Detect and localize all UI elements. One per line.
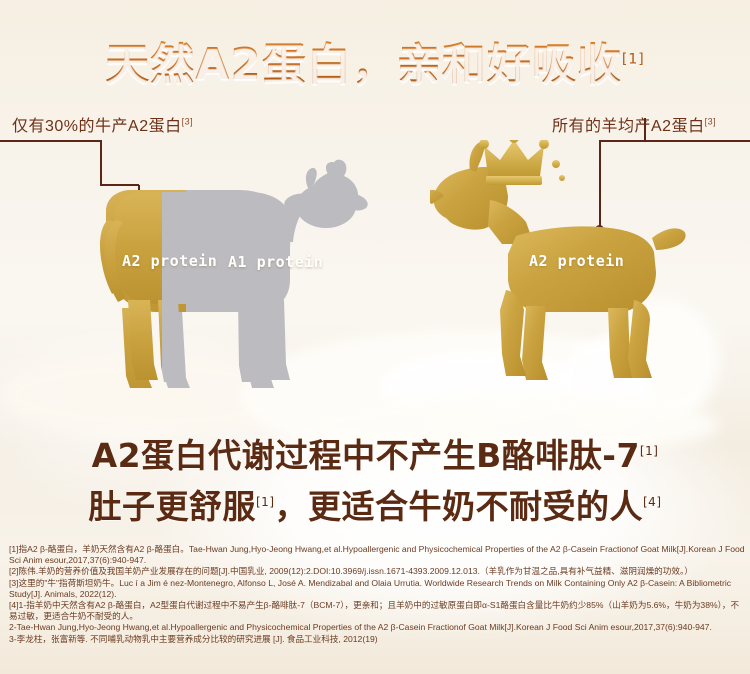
callout-goat-label: 所有的羊均产A2蛋白[3] (552, 112, 716, 136)
callout-cow-text: 仅有30%的牛产A2蛋白 (12, 118, 182, 135)
claim-1-text: A2蛋白代谢过程中不产生B酪啡肽-7 (92, 436, 640, 475)
leader-line-cow-horizontal (0, 140, 101, 142)
footnotes-block: [1]指A2 β-酪蛋白，羊奶天然含有A2 β-酪蛋白。Tae-Hwan Jun… (9, 544, 745, 645)
claim-1-superscript: [1] (640, 444, 659, 458)
callout-cow-superscript: [3] (182, 117, 194, 127)
goat-leg-rear-2 (628, 300, 652, 378)
claim-2-superscript-b: [4] (643, 495, 662, 509)
footnote-4: [4]1-指羊奶中天然含有A2 β-酪蛋白，A2型蛋白代谢过程中不易产生β-酪啡… (9, 600, 745, 622)
footnote-3: [3]这里的"牛"指荷斯坦奶牛。Luc í a Jim é nez-Monten… (9, 578, 745, 600)
footnote-1: [1]指A2 β-酪蛋白，羊奶天然含有A2 β-酪蛋白。Tae-Hwan Jun… (9, 544, 745, 566)
footnote-ref-2: 2-Tae-Hwan Jung,Hyo-Jeong Hwang,et al.Hy… (9, 622, 745, 633)
goat-leg-front-1 (522, 306, 548, 380)
claim-line-2: 肚子更舒服[1]，更适合牛奶不耐受的人[4] (0, 479, 750, 530)
callout-goat-text: 所有的羊均产A2蛋白 (552, 118, 705, 135)
claim-2-superscript-a: [1] (256, 495, 275, 509)
goat-a2-protein-label: A2 protein (529, 252, 624, 270)
cow-a1-protein-label: A1 protein (228, 253, 323, 271)
footnote-2: [2]陈伟.羊奶的营养价值及我国羊奶产业发展存在的问题[J].中国乳业, 200… (9, 566, 745, 577)
leader-line-goat-right-stem (644, 118, 646, 142)
cow-a2-protein-label: A2 protein (122, 252, 217, 270)
headline-text: 天然A2蛋白，亲和好吸收 (105, 39, 622, 90)
promo-banner: 天然A2蛋白，亲和好吸收[1] 仅有30%的牛产A2蛋白[3] 所有的羊均产A2… (0, 0, 750, 674)
callout-goat-superscript: [3] (705, 117, 717, 127)
cow-silhouette-detail (98, 158, 398, 398)
callout-cow-label: 仅有30%的牛产A2蛋白[3] (12, 112, 193, 136)
crown-icon (479, 140, 565, 185)
claim-line-1: A2蛋白代谢过程中不产生B酪啡肽-7[1] (0, 428, 750, 479)
claims-block: A2蛋白代谢过程中不产生B酪啡肽-7[1] 肚子更舒服[1]，更适合牛奶不耐受的… (0, 428, 750, 530)
footnote-ref-3: 3-李龙柱，张富新等. 不同哺乳动物乳中主要营养成分比较的研究进展 [J]. 食… (9, 634, 745, 645)
claim-2-text-b: ，更适合牛奶不耐受的人 (275, 487, 644, 526)
page-title: 天然A2蛋白，亲和好吸收[1] (105, 28, 645, 92)
goat-silhouette (430, 140, 730, 400)
headline-superscript: [1] (622, 51, 645, 67)
headline-wrap: 天然A2蛋白，亲和好吸收[1] (0, 28, 750, 92)
goat-tail (652, 228, 686, 250)
claim-2-text-a: 肚子更舒服 (89, 487, 257, 526)
